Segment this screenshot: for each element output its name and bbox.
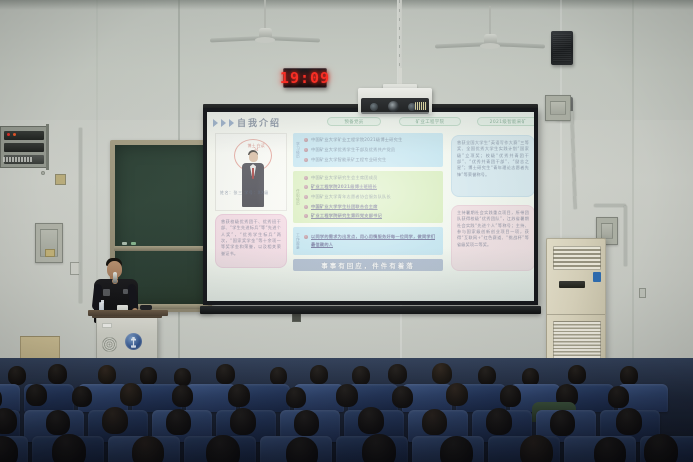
- rack-unit: [4, 143, 44, 152]
- projector-dial: [370, 103, 378, 111]
- bullet-row: 矿业工程学院研究生第四党支部书记: [304, 213, 441, 219]
- status-led: [13, 133, 16, 136]
- bullet-row: 中国矿业大学智能采矿工程专业研究生: [304, 157, 441, 163]
- microphone: [113, 272, 117, 283]
- screen-frame: 自我介绍 预备党员 矿业工程学院 2021级智能采矿 博士 在读 34: [203, 108, 538, 305]
- chalk-piece: [122, 242, 127, 245]
- university-emblem: [125, 333, 142, 350]
- bullet-text: 矿业工程学院2021级博士班班长: [311, 184, 377, 190]
- bullet-dot-icon: [304, 148, 308, 152]
- education-box-tab: 学习经历: [293, 133, 302, 167]
- bullet-dot-icon: [304, 214, 308, 218]
- rack-keys: [3, 157, 33, 162]
- speaker-grille: [553, 34, 571, 62]
- screen-surface: 自我介绍 预备党员 矿业工程学院 2021级智能采矿 博士 在读 34: [207, 112, 534, 301]
- honors-panel-text: 曾获全国大学生“英语写作大赛”三等奖、全国优秀大学生实践计划“国家级”立项奖；校…: [457, 140, 529, 178]
- fan-rod: [489, 6, 491, 36]
- wall-conduit: [624, 206, 627, 266]
- honors-panel: 曾获全国大学生“英语写作大赛”三等奖、全国优秀大学生实践计划“国家级”立项奖；校…: [451, 135, 534, 197]
- seat-row: [0, 434, 693, 462]
- bullet-row: 中国矿业大学矿业工程学院2021级博士研究生: [304, 137, 441, 143]
- positions-bullets: 中国矿业大学研究生会主席团成员 矿业工程学院2021级博士班班长 中国矿业大学青…: [304, 173, 441, 221]
- positions-box-tab: 任职经历: [293, 171, 302, 223]
- bullet-row: 以同学的需求为出发点，用心用情服务好每一位同学，做同学们: [304, 234, 441, 240]
- photo-figure: [240, 150, 266, 210]
- mission-bullets: 以同学的需求为出发点，用心用情服务好每一位同学，做同学们 最信赖的人: [304, 229, 441, 253]
- mission-box-tab: 工作愿景: [293, 227, 302, 255]
- wall-seam: [632, 0, 634, 400]
- wall-panel-inner: [550, 101, 566, 115]
- wall-conduit: [79, 128, 82, 303]
- ac-energy-badge: [593, 272, 601, 282]
- bullet-text: 中国矿业大学智能采矿工程专业研究生: [311, 157, 386, 163]
- bullet-text: 以同学的需求为出发点，用心用情服务好每一位同学，做同学们: [311, 234, 435, 240]
- rack-unit: [4, 131, 44, 140]
- screen-weight-bar: [200, 306, 541, 314]
- bullet-dot-icon: [304, 235, 308, 239]
- mission-box: 工作愿景 以同学的需求为出发点，用心用情服务好每一位同学，做同学们 最信赖的人: [293, 227, 443, 255]
- bullet-dot-icon: [304, 185, 308, 189]
- bullet-row: 中国矿业大学学生社团联合会主席: [304, 204, 441, 210]
- bullet-row: 最信赖的人: [304, 242, 441, 248]
- bullet-text: 矿业工程学院研究生第四党支部书记: [311, 213, 382, 219]
- practice-panel-text: 主持暑期社会实践重点项目，所带团队获得校级“优秀团队”，江苏省暑期社会实践“先进…: [457, 210, 529, 248]
- audience-head: [440, 436, 473, 462]
- chevron-right-icon: [221, 119, 226, 127]
- figure-tie: [252, 168, 254, 179]
- wall-fixture: [41, 171, 45, 175]
- audience-head: [132, 436, 164, 462]
- slide-tag-college: 矿业工程学院: [399, 117, 461, 126]
- presenter-photo: 博士 在读 34 姓名：张三 学号：XX级: [215, 133, 287, 211]
- fan-rod: [264, 0, 266, 30]
- bullet-row: 矿业工程学院2021级博士班班长: [304, 184, 441, 190]
- slide-title: 自我介绍: [237, 116, 281, 129]
- audience-head: [644, 434, 678, 462]
- bullet-dot-icon: [304, 205, 308, 209]
- ceiling-fan: [430, 6, 550, 51]
- presenter-shirt-logo: [103, 289, 110, 296]
- award-panel-text: 曾获校级优秀团干、优秀班干部、“学生先进标兵”等“先进个人奖”，“优秀学生标兵”…: [221, 219, 281, 257]
- bullet-row: 中国矿业大学优秀学生干部及优秀共产党员: [304, 147, 441, 153]
- slide-banner: 事事有回应，件件有着落: [293, 259, 443, 271]
- bullet-dot-icon: [304, 138, 308, 142]
- lectern-desktop: [88, 310, 168, 316]
- slide-tag-class: 2021级智能采矿: [477, 117, 534, 126]
- projector-lens: [388, 101, 399, 112]
- audience-head: [594, 437, 626, 462]
- chevron-right-icon: [229, 119, 234, 127]
- audience-head: [520, 435, 553, 462]
- upper-wall: [0, 0, 693, 120]
- chalk-rail: [114, 246, 208, 251]
- wall-speaker: [551, 31, 573, 65]
- ac-display: [559, 281, 585, 288]
- rack-edge: [46, 124, 49, 170]
- bullet-row: 中国矿业大学研究生会主席团成员: [304, 175, 441, 181]
- chalk-piece: [131, 242, 136, 245]
- status-led: [7, 133, 10, 136]
- equipment-rack: [0, 126, 48, 168]
- bullet-dot-icon: [304, 158, 308, 162]
- bullet-text: 中国矿业大学青年志愿者协会服务队队长: [311, 194, 391, 200]
- education-bullets: 中国矿业大学矿业工程学院2021级博士研究生 中国矿业大学优秀学生干部及优秀共产…: [304, 135, 441, 165]
- bullet-dot-icon: [304, 176, 308, 180]
- bullet-text: 中国矿业大学优秀学生干部及优秀共产党员: [311, 147, 395, 153]
- ceiling-shadow: [0, 0, 693, 10]
- slide-title-group: 自我介绍: [213, 116, 281, 129]
- audience-head: [0, 436, 18, 462]
- audience-area: [0, 358, 693, 462]
- digital-wall-clock: 19:09: [283, 68, 327, 88]
- wall-switch-box: [55, 174, 66, 185]
- audience-head: [362, 434, 396, 462]
- wall-junction-box: [545, 95, 571, 121]
- slide-tag-party-member: 预备党员: [327, 117, 381, 126]
- audience-head: [52, 434, 86, 462]
- ceiling-projector: [358, 88, 432, 114]
- chevron-right-icon: [213, 119, 218, 127]
- bullet-text: 最信赖的人: [311, 242, 333, 248]
- clock-time: 19:09: [280, 71, 330, 86]
- wall-outlet: [639, 288, 646, 298]
- wall-panel-inner: [601, 223, 613, 239]
- audience-head: [206, 435, 240, 462]
- lectern-speaker-grille: [102, 337, 117, 352]
- education-box: 学习经历 中国矿业大学矿业工程学院2021级博士研究生 中国矿业大学优秀学生干部…: [293, 133, 443, 167]
- projector-indicator-strip: [415, 102, 427, 110]
- bullet-text: 中国矿业大学学生社团联合会主席: [311, 204, 378, 210]
- bullet-text: 中国矿业大学矿业工程学院2021级博士研究生: [311, 137, 403, 143]
- award-panel: 曾获校级优秀团干、优秀班干部、“学生先进标兵”等“先进个人奖”，“优秀学生标兵”…: [215, 214, 287, 268]
- wall-panel: [35, 223, 63, 263]
- audience-head: [286, 437, 318, 462]
- wall-conduit: [594, 204, 626, 207]
- bullet-row: 中国矿业大学青年志愿者协会服务队队长: [304, 194, 441, 200]
- presentation-slide: 自我介绍 预备党员 矿业工程学院 2021级智能采矿 博士 在读 34: [207, 112, 534, 301]
- fan-hub: [480, 43, 500, 49]
- lectern-label: [102, 323, 112, 328]
- ceiling-fan: [205, 0, 325, 45]
- bullet-dot-icon: [304, 195, 308, 199]
- fan-hub: [255, 37, 275, 43]
- bullet-text: 中国矿业大学研究生会主席团成员: [311, 175, 378, 181]
- figure-head: [249, 152, 258, 162]
- ac-top-vent: [553, 246, 601, 270]
- lecture-hall-scene: 自我介绍 预备党员 矿业工程学院 2021级智能采矿 博士 在读 34: [0, 0, 693, 462]
- positions-box: 任职经历 中国矿业大学研究生会主席团成员 矿业工程学院2021级博士班班长: [293, 171, 443, 223]
- projection-screen: 自我介绍 预备党员 矿业工程学院 2021级智能采矿 博士 在读 34: [203, 104, 538, 314]
- wall-panel-plate: [45, 249, 55, 257]
- practice-panel: 主持暑期社会实践重点项目，所带团队获得校级“优秀团队”，江苏省暑期社会实践“先进…: [451, 205, 534, 271]
- ac-seam: [547, 314, 605, 315]
- photo-caption: 姓名：张三 学号：XX级: [220, 190, 269, 196]
